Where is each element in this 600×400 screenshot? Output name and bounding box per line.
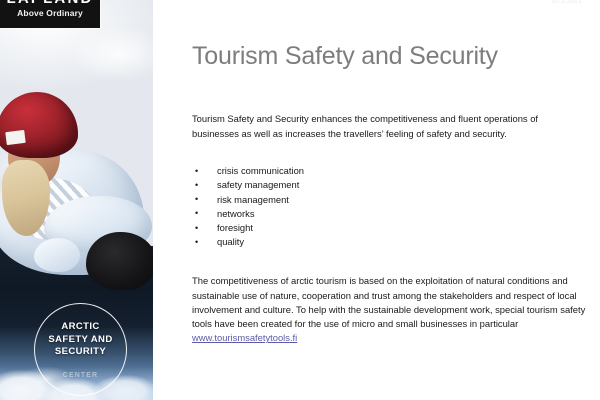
- winter-sports-woman-photo: LAPLAND Above Ordinary ARCTIC SAFETY AND…: [0, 0, 153, 400]
- closing-paragraph-text: The competitiveness of arctic tourism is…: [192, 275, 585, 329]
- topics-bullet-list: crisis communication safety management r…: [192, 164, 442, 250]
- badge-subtitle: CENTER: [63, 372, 98, 379]
- page-title: Tourism Safety and Security: [192, 42, 498, 71]
- list-item: crisis communication: [192, 164, 442, 178]
- presentation-slide: LAPLAND Above Ordinary ARCTIC SAFETY AND…: [0, 0, 600, 400]
- tourism-safety-tools-link[interactable]: www.tourismsafetytools.fi: [192, 332, 297, 343]
- list-item: foresight: [192, 221, 442, 235]
- lapland-logo: LAPLAND Above Ordinary: [0, 0, 100, 28]
- date-stamp: 10.3.2021: [551, 0, 582, 5]
- badge-title: ARCTIC SAFETY AND SECURITY: [48, 321, 112, 359]
- arctic-safety-and-security-badge: ARCTIC SAFETY AND SECURITY CENTER: [34, 303, 127, 396]
- list-item: risk management: [192, 193, 442, 207]
- list-item: networks: [192, 207, 442, 221]
- lapland-wordmark: LAPLAND: [0, 0, 100, 6]
- list-item: safety management: [192, 178, 442, 192]
- list-item: quality: [192, 235, 442, 249]
- lapland-tagline: Above Ordinary: [0, 8, 100, 18]
- photo-helmet-label-shape: [5, 130, 25, 145]
- closing-paragraph: The competitiveness of arctic tourism is…: [192, 274, 588, 345]
- photo-dog-shape: [86, 232, 153, 290]
- slide-content-panel: 10.3.2021 Tourism Safety and Security To…: [153, 0, 600, 400]
- photo-glove-shape: [34, 238, 80, 272]
- intro-paragraph: Tourism Safety and Security enhances the…: [192, 112, 584, 140]
